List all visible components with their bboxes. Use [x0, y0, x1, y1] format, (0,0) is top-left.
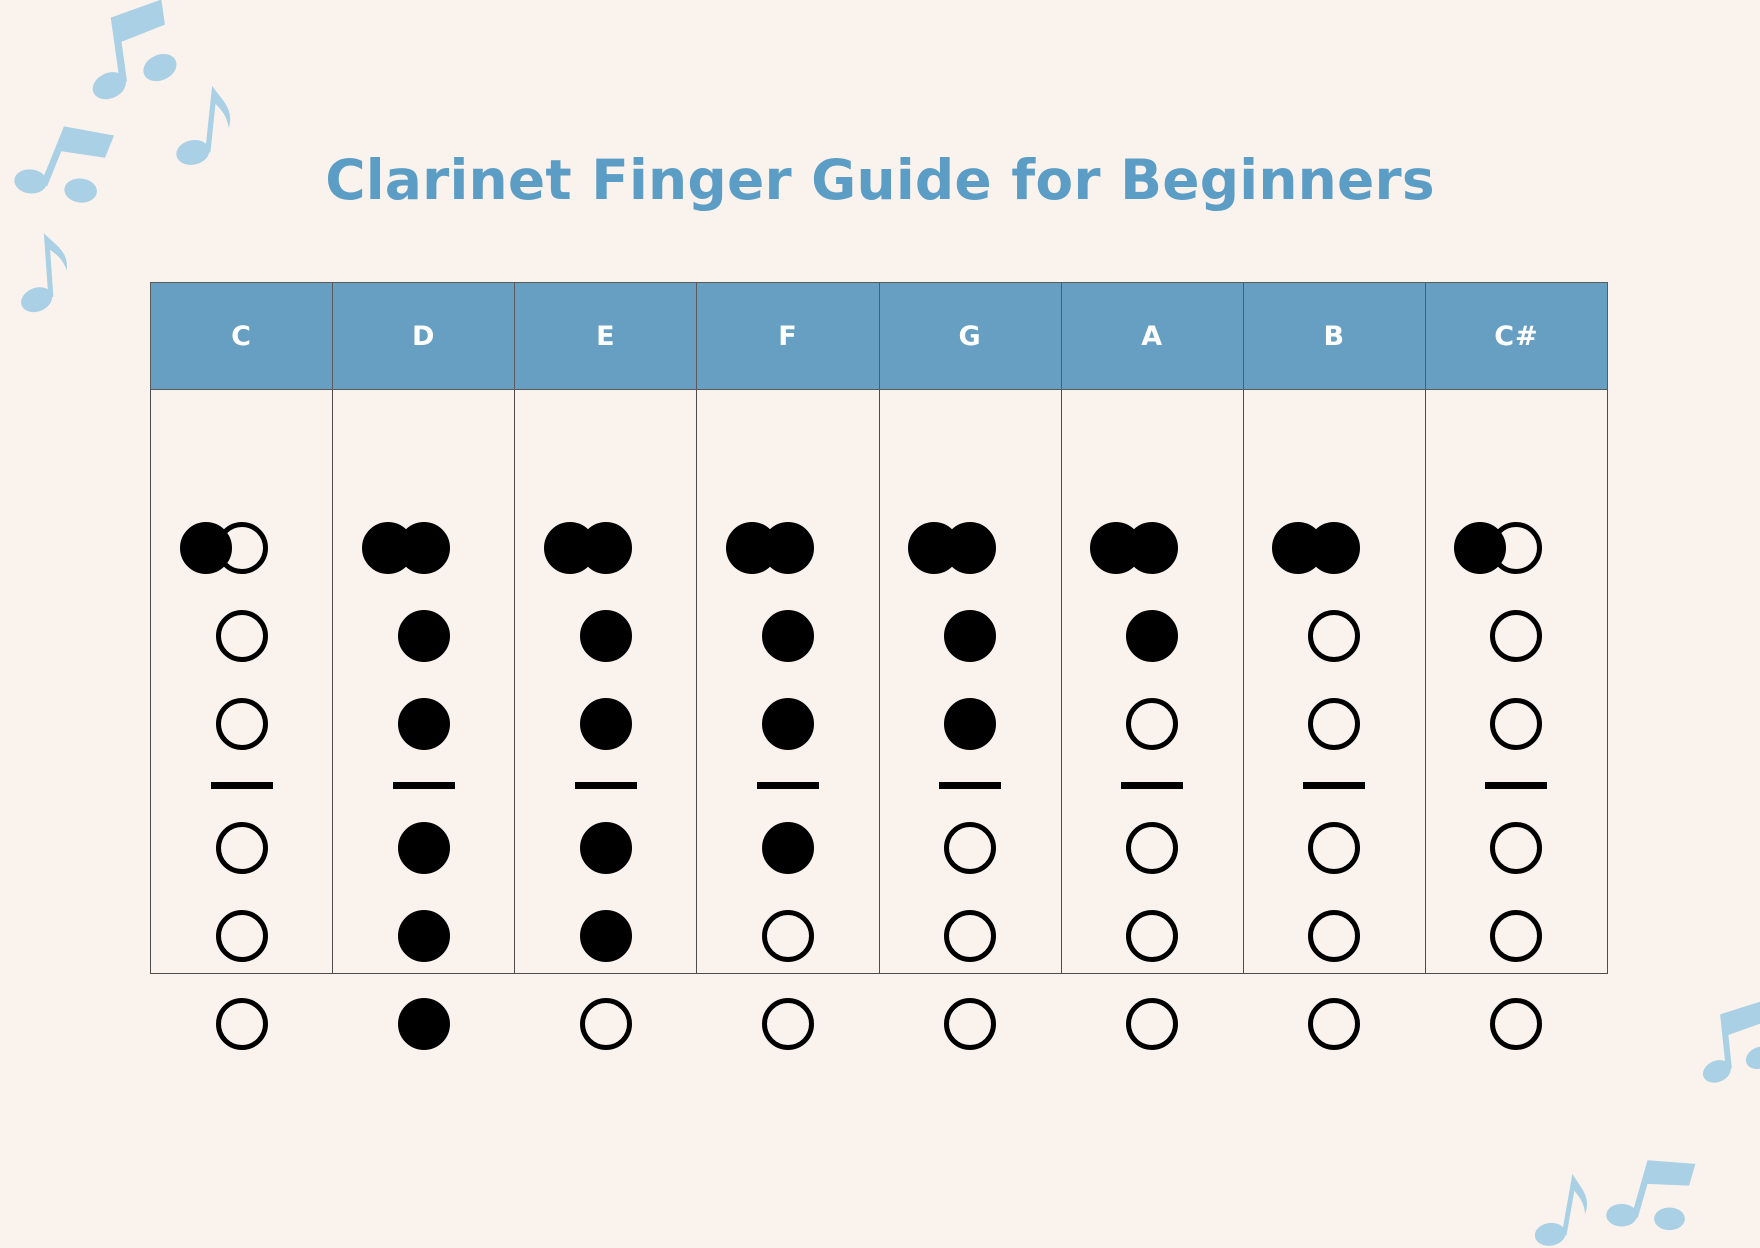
column-header-b: B [1243, 283, 1425, 390]
hole-4 [762, 822, 814, 874]
hole-3 [398, 698, 450, 750]
hole-5 [216, 910, 268, 962]
column-header-f: F [697, 283, 879, 390]
hole-5 [1490, 910, 1542, 962]
hole-5 [398, 910, 450, 962]
hole-4 [944, 822, 996, 874]
hole-6 [1308, 998, 1360, 1050]
hole-4 [1490, 822, 1542, 874]
hole-6 [216, 998, 268, 1050]
beamed-eighth-notes-icon [1696, 998, 1760, 1094]
hole-6 [398, 998, 450, 1050]
hole-4 [216, 822, 268, 874]
hand-separator-bar [1303, 782, 1365, 789]
fingering-diagram [1244, 390, 1425, 973]
fingering-chart: CDEFGABC# [150, 282, 1608, 972]
column-header-csharp: C# [1425, 283, 1607, 390]
page-title: Clarinet Finger Guide for Beginners [0, 148, 1760, 212]
hole-1 [1308, 522, 1360, 574]
fingering-cell-c [151, 390, 333, 974]
hole-5 [1308, 910, 1360, 962]
hole-6 [580, 998, 632, 1050]
fingering-diagram [1426, 390, 1607, 973]
fingering-cell-f [697, 390, 879, 974]
hole-6 [762, 998, 814, 1050]
hand-separator-bar [1485, 782, 1547, 789]
hole-3 [1308, 698, 1360, 750]
hole-1 [398, 522, 450, 574]
hole-4 [1126, 822, 1178, 874]
hole-2 [1308, 610, 1360, 662]
fingering-cell-g [879, 390, 1061, 974]
hole-1 [944, 522, 996, 574]
fingering-cell-b [1243, 390, 1425, 974]
hole-2 [398, 610, 450, 662]
hole-2 [1490, 610, 1542, 662]
column-header-e: E [515, 283, 697, 390]
hand-separator-bar [939, 782, 1001, 789]
hole-3 [944, 698, 996, 750]
table-header-row: CDEFGABC# [151, 283, 1608, 390]
hole-6 [944, 998, 996, 1050]
fingering-diagram [151, 390, 332, 973]
column-header-d: D [333, 283, 515, 390]
fingering-cell-e [515, 390, 697, 974]
hole-1 [580, 522, 632, 574]
column-header-a: A [1061, 283, 1243, 390]
hole-6 [1126, 998, 1178, 1050]
hole-2 [580, 610, 632, 662]
hole-5 [944, 910, 996, 962]
hole-5 [580, 910, 632, 962]
quarter-note-icon [1531, 1164, 1598, 1248]
column-header-c: C [151, 283, 333, 390]
eighth-note-icon [15, 226, 75, 321]
column-header-g: G [879, 283, 1061, 390]
hole-2 [762, 610, 814, 662]
fingering-cell-d [333, 390, 515, 974]
hand-separator-bar [211, 782, 273, 789]
hole-5 [762, 910, 814, 962]
hole-1 [216, 522, 268, 574]
hole-1 [762, 522, 814, 574]
hole-4 [398, 822, 450, 874]
hand-separator-bar [393, 782, 455, 789]
fingering-diagram [1062, 390, 1243, 973]
hole-2 [1126, 610, 1178, 662]
hand-separator-bar [1121, 782, 1183, 789]
fingering-diagram [333, 390, 514, 973]
hole-1 [1126, 522, 1178, 574]
beamed-eighth-notes-icon [81, 0, 187, 113]
hand-separator-bar [575, 782, 637, 789]
beamed-eighth-notes-icon [1601, 1142, 1706, 1248]
hole-3 [580, 698, 632, 750]
fingering-cell-csharp [1425, 390, 1607, 974]
hole-6 [1490, 998, 1542, 1050]
hole-5 [1126, 910, 1178, 962]
fingering-table: CDEFGABC# [150, 282, 1608, 974]
fingering-diagram [880, 390, 1061, 973]
hole-3 [1490, 698, 1542, 750]
hole-4 [580, 822, 632, 874]
table-body-row [151, 390, 1608, 974]
hole-1 [1490, 522, 1542, 574]
hole-3 [1126, 698, 1178, 750]
hole-3 [762, 698, 814, 750]
fingering-cell-a [1061, 390, 1243, 974]
fingering-diagram [697, 390, 878, 973]
hole-4 [1308, 822, 1360, 874]
hole-2 [216, 610, 268, 662]
hole-3 [216, 698, 268, 750]
hole-2 [944, 610, 996, 662]
hand-separator-bar [757, 782, 819, 789]
fingering-diagram [515, 390, 696, 973]
